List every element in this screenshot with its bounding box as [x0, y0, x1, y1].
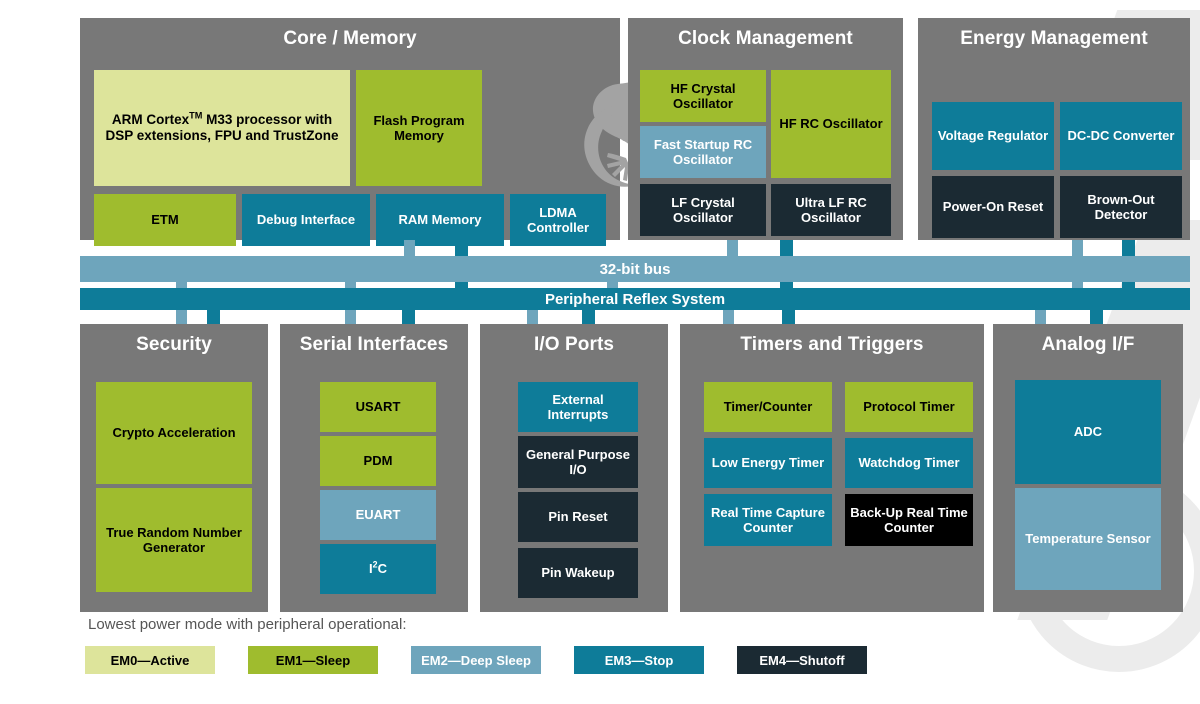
block-euart: EUART — [320, 490, 436, 540]
block-etm: ETM — [94, 194, 236, 246]
block-temperature-sensor: Temperature Sensor — [1015, 488, 1161, 590]
legend-item-em4: EM4—Shutoff — [737, 646, 867, 674]
block-hf-rc-oscillator: HF RC Oscillator — [771, 70, 891, 178]
bus-connector-stub — [1090, 310, 1103, 324]
block-lf-crystal-oscillator: LF Crystal Oscillator — [640, 184, 766, 236]
legend-caption: Lowest power mode with peripheral operat… — [88, 616, 407, 633]
block-flash-program-memory: Flash Program Memory — [356, 70, 482, 186]
legend-item-em1: EM1—Sleep — [248, 646, 378, 674]
panel-title-analog-if: Analog I/F — [993, 324, 1183, 356]
panel-clock-management: Clock Management HF Crystal Oscillator F… — [628, 18, 903, 240]
panel-energy-management: Energy Management Voltage Regulator DC-D… — [918, 18, 1190, 240]
block-true-random-number-generator: True Random Number Generator — [96, 488, 252, 592]
block-pin-wakeup: Pin Wakeup — [518, 548, 638, 598]
block-general-purpose-io: General Purpose I/O — [518, 436, 638, 488]
block-external-interrupts: External Interrupts — [518, 382, 638, 432]
panel-security: Security Crypto Acceleration True Random… — [80, 324, 268, 612]
block-ldma-controller: LDMA Controller — [510, 194, 606, 246]
panel-io-ports: I/O Ports External Interrupts General Pu… — [480, 324, 668, 612]
bus-connector-stub — [176, 310, 187, 324]
bus-32bit-label: 32-bit bus — [600, 261, 671, 278]
block-back-up-real-time-counter: Back-Up Real Time Counter — [845, 494, 973, 546]
panel-title-security: Security — [80, 324, 268, 356]
block-fast-startup-rc-oscillator: Fast Startup RC Oscillator — [640, 126, 766, 178]
block-diagram: Core / Memory ARM CortexTM M33 processor… — [0, 0, 1200, 704]
bus-peripheral-reflex-system: Peripheral Reflex System — [80, 288, 1190, 310]
panel-title-core-memory: Core / Memory — [80, 18, 620, 50]
block-brown-out-detector: Brown-Out Detector — [1060, 176, 1182, 238]
bus-connector-stub — [207, 310, 220, 324]
block-real-time-capture-counter: Real Time Capture Counter — [704, 494, 832, 546]
legend-item-em2: EM2—Deep Sleep — [411, 646, 541, 674]
block-hf-crystal-oscillator: HF Crystal Oscillator — [640, 70, 766, 122]
panel-title-timers-and-triggers: Timers and Triggers — [680, 324, 984, 356]
block-watchdog-timer: Watchdog Timer — [845, 438, 973, 488]
bus-connector-stub — [402, 310, 415, 324]
block-adc: ADC — [1015, 380, 1161, 484]
block-ram-memory: RAM Memory — [376, 194, 504, 246]
block-low-energy-timer: Low Energy Timer — [704, 438, 832, 488]
block-pin-reset: Pin Reset — [518, 492, 638, 542]
legend-item-em0: EM0—Active — [85, 646, 215, 674]
panel-title-clock-management: Clock Management — [628, 18, 903, 50]
block-pdm: PDM — [320, 436, 436, 486]
bus-prs-label: Peripheral Reflex System — [545, 291, 725, 308]
bus-connector-stub — [582, 310, 595, 324]
panel-analog-if: Analog I/F ADC Temperature Sensor — [993, 324, 1183, 612]
panel-title-io-ports: I/O Ports — [480, 324, 668, 356]
bus-connector-stub — [527, 310, 538, 324]
block-dc-dc-converter: DC-DC Converter — [1060, 102, 1182, 170]
block-i2c-label: I2C — [369, 561, 387, 576]
bus-connector-stub — [723, 310, 734, 324]
panel-title-serial-interfaces: Serial Interfaces — [280, 324, 468, 356]
block-voltage-regulator: Voltage Regulator — [932, 102, 1054, 170]
bus-32bit: 32-bit bus — [80, 256, 1190, 282]
block-crypto-acceleration: Crypto Acceleration — [96, 382, 252, 484]
panel-serial-interfaces: Serial Interfaces USART PDM EUART I2C — [280, 324, 468, 612]
block-debug-interface: Debug Interface — [242, 194, 370, 246]
bus-connector-stub — [1035, 310, 1046, 324]
legend-item-em3: EM3—Stop — [574, 646, 704, 674]
panel-core-memory: Core / Memory ARM CortexTM M33 processor… — [80, 18, 620, 240]
block-usart: USART — [320, 382, 436, 432]
block-ultra-lf-rc-oscillator: Ultra LF RC Oscillator — [771, 184, 891, 236]
panel-timers-and-triggers: Timers and Triggers Timer/Counter Protoc… — [680, 324, 984, 612]
block-power-on-reset: Power-On Reset — [932, 176, 1054, 238]
block-i2c: I2C — [320, 544, 436, 594]
block-timer-counter: Timer/Counter — [704, 382, 832, 432]
bus-connector-stub — [345, 310, 356, 324]
block-protocol-timer: Protocol Timer — [845, 382, 973, 432]
bus-connector-stub — [782, 310, 795, 324]
block-arm-cortex-m33: ARM CortexTM M33 processor with DSP exte… — [94, 70, 350, 186]
panel-title-energy-management: Energy Management — [918, 18, 1190, 50]
